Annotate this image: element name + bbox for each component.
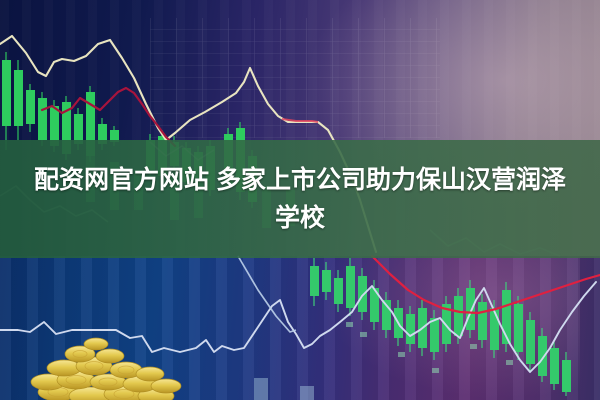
headline-block: 配资网官方网站 多家上市公司助力保山汉营润泽 学校 [0, 140, 600, 258]
gold-coin-pile [18, 330, 198, 400]
lower-candlestick-group [254, 258, 571, 400]
headline-line-1: 配资网官方网站 多家上市公司助力保山汉营润泽 [34, 161, 566, 199]
crimson-trend-line [42, 88, 175, 146]
headline-line-2: 学校 [275, 199, 325, 237]
banner-image: 配资网官方网站 多家上市公司助力保山汉营润泽 学校 [0, 0, 600, 400]
